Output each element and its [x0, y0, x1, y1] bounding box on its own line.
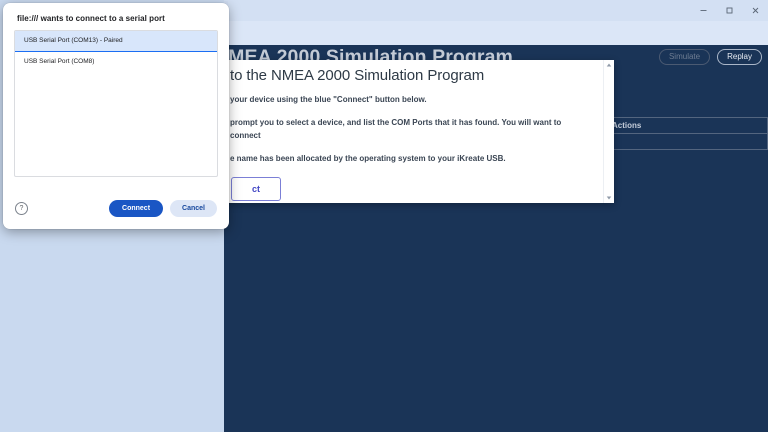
table-header-row: Actions	[607, 118, 768, 134]
header-actions: Simulate Replay	[659, 49, 762, 65]
scroll-up-icon[interactable]	[604, 60, 614, 70]
window-controls	[690, 0, 768, 21]
browser-window: %20not%20encrypted%20(1).html NMEA 2000 …	[224, 0, 768, 432]
table-header-actions: Actions	[607, 118, 768, 134]
scroll-down-icon[interactable]	[604, 193, 614, 203]
welcome-modal: to the NMEA 2000 Simulation Program your…	[224, 60, 614, 203]
cancel-button[interactable]: Cancel	[170, 200, 217, 217]
modal-paragraph-2: prompt you to select a device, and list …	[230, 117, 592, 142]
tab-strip	[224, 0, 768, 21]
minimize-icon[interactable]	[690, 0, 716, 21]
web-page-content: NMEA 2000 Simulation Program Simulate Re…	[224, 45, 768, 432]
modal-paragraph-1: your device using the blue "Connect" but…	[230, 94, 592, 106]
close-icon[interactable]	[742, 0, 768, 21]
modal-heading: to the NMEA 2000 Simulation Program	[230, 67, 592, 84]
device-list[interactable]: USB Serial Port (COM13) - Paired USB Ser…	[14, 30, 218, 177]
dialog-actions: Connect Cancel	[109, 200, 217, 217]
dialog-title: file:/// wants to connect to a serial po…	[3, 3, 229, 30]
browser-toolbar: %20not%20encrypted%20(1).html	[224, 21, 768, 45]
modal-paragraph-3: e name has been allocated by the operati…	[230, 153, 592, 165]
connect-button[interactable]: Connect	[109, 200, 163, 217]
help-icon[interactable]: ?	[15, 202, 28, 215]
device-list-item[interactable]: USB Serial Port (COM13) - Paired	[15, 31, 217, 52]
replay-button[interactable]: Replay	[717, 49, 762, 65]
simulate-button[interactable]: Simulate	[659, 49, 710, 65]
maximize-icon[interactable]	[716, 0, 742, 21]
serial-port-permission-dialog: file:/// wants to connect to a serial po…	[3, 3, 229, 229]
actions-table: Actions	[606, 117, 768, 150]
dialog-footer: ? Connect Cancel	[3, 187, 229, 229]
table-row[interactable]	[607, 134, 768, 150]
table-cell-actions	[607, 134, 768, 150]
device-list-item[interactable]: USB Serial Port (COM8)	[15, 52, 217, 72]
modal-scrollbar[interactable]	[603, 60, 614, 203]
modal-connect-button[interactable]: ct	[231, 177, 281, 201]
